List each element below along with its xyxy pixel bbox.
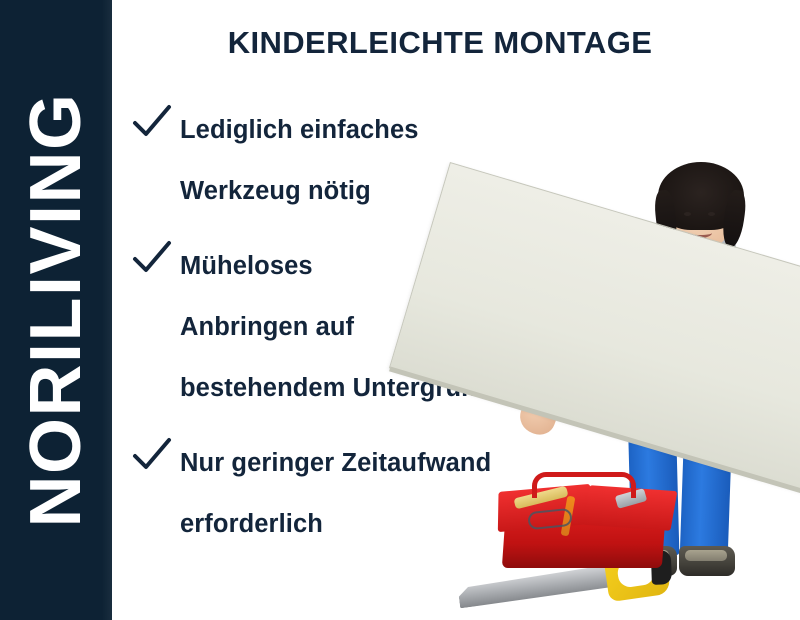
worker-torso bbox=[632, 230, 736, 390]
list-item-label: Nur geringer Zeitaufwand erforderlich bbox=[180, 433, 562, 555]
worker-head bbox=[668, 175, 732, 251]
saw-handle bbox=[603, 546, 671, 602]
list-item: Lediglich einfaches Werkzeug nötig bbox=[132, 100, 562, 222]
worker-leg-left bbox=[627, 370, 680, 555]
check-icon bbox=[132, 240, 180, 284]
list-item-label: Lediglich einfaches Werkzeug nötig bbox=[180, 100, 562, 222]
brand-sidebar: NORILIVING bbox=[0, 0, 112, 620]
worker-hair bbox=[658, 162, 744, 230]
page-title: KINDERLEICHTE MONTAGE bbox=[130, 26, 750, 60]
worker-hair-right bbox=[720, 189, 748, 249]
worker-leg-right bbox=[680, 370, 734, 555]
worker-eye-right bbox=[708, 212, 715, 216]
saw-grip-hole bbox=[616, 558, 655, 589]
worker-overall-bib bbox=[662, 238, 708, 388]
feature-list: Lediglich einfaches Werkzeug nötig Mühel… bbox=[132, 100, 562, 569]
worker-legs bbox=[625, 370, 737, 585]
worker-arm-right bbox=[701, 243, 751, 367]
saw-handle-tip bbox=[651, 550, 672, 585]
check-icon bbox=[132, 437, 180, 481]
promo-banner: NORILIVING KINDERLEICHTE MONTAGE Ledigli… bbox=[0, 0, 800, 620]
toolbox-tray-right bbox=[583, 485, 678, 531]
brand-sidebar-sheen bbox=[102, 0, 112, 620]
boot-toe bbox=[685, 550, 727, 561]
worker-forearm-right bbox=[678, 317, 761, 364]
worker-neck bbox=[686, 242, 714, 264]
worker-eye-left bbox=[684, 212, 691, 216]
boot-toe bbox=[627, 550, 669, 561]
worker-boot-left bbox=[621, 546, 677, 576]
list-item: Nur geringer Zeitaufwand erforderlich bbox=[132, 433, 562, 555]
worker-hair-left bbox=[653, 189, 679, 249]
brand-name: NORILIVING bbox=[20, 92, 92, 527]
worker-boot-right bbox=[679, 546, 735, 576]
worker-overall-strap-right bbox=[696, 227, 717, 271]
worker-hand-right bbox=[645, 321, 713, 377]
tool-screwdriver bbox=[561, 496, 576, 537]
tool-hammer bbox=[615, 488, 647, 509]
check-icon bbox=[132, 104, 180, 148]
list-item-label: Müheloses Anbringen auf bestehendem Unte… bbox=[180, 236, 562, 419]
worker-overall-strap-left bbox=[649, 227, 668, 271]
worker-smile bbox=[688, 228, 712, 238]
list-item: Müheloses Anbringen auf bestehendem Unte… bbox=[132, 236, 562, 419]
